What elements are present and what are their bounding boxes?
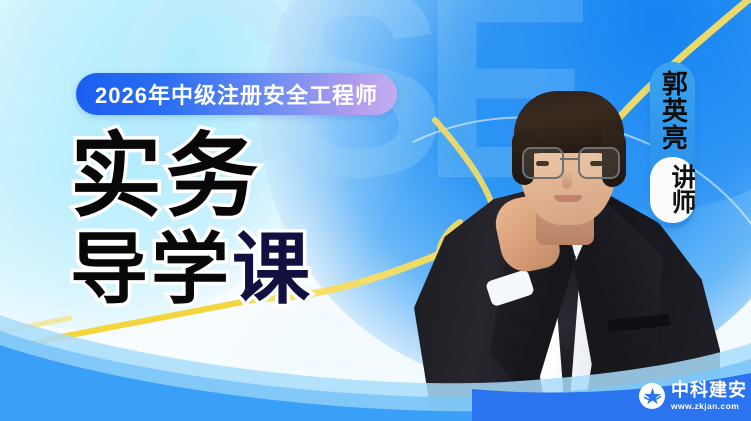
brand-logo: 中科建安 www.zkjan.com (627, 371, 751, 421)
mouth (554, 195, 582, 202)
brand-url: www.zkjan.com (671, 402, 747, 411)
title-primary: 实务 (70, 132, 313, 222)
instructor-name-badge: 郭英亮 讲师 (650, 62, 695, 228)
brand-text: 中科建安 www.zkjan.com (671, 381, 747, 411)
nose (562, 171, 572, 189)
instructor-name: 郭英亮 (659, 70, 687, 151)
lens-left (522, 147, 564, 179)
exam-badge-label: 2026年中级注册安全工程师 (95, 78, 378, 110)
zkjan-star-emblem-icon (639, 383, 665, 409)
brand-name: 中科建安 (671, 381, 747, 399)
course-banner: C S E (0, 0, 751, 421)
lens-right (578, 147, 620, 179)
exam-badge: 2026年中级注册安全工程师 (76, 73, 397, 115)
instructor-role: 讲师 (650, 157, 695, 223)
glasses-bridge (560, 158, 578, 160)
